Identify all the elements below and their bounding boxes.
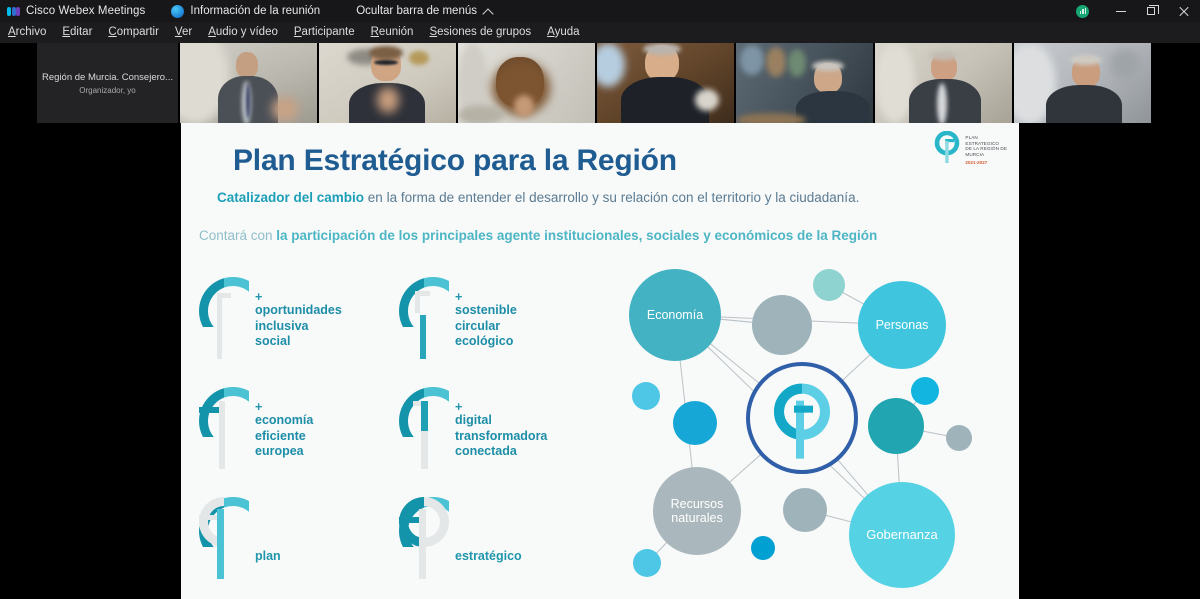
self-tile-role: Organizador, yo bbox=[79, 86, 135, 95]
menu-item-compartir[interactable]: Compartir bbox=[100, 22, 167, 43]
network-node-recursos-naturales: Recursos naturales bbox=[653, 467, 741, 555]
feature-text: estratégico bbox=[455, 495, 522, 563]
feature-item-plan: plan bbox=[193, 495, 393, 595]
feature-item-economia: + economía eficiente europea bbox=[193, 385, 393, 495]
window-controls bbox=[1076, 0, 1200, 22]
feature-item-sostenible: + sostenible circular ecológico bbox=[393, 275, 593, 385]
ring-mark-digital-icon bbox=[393, 385, 455, 471]
network-node-11 bbox=[783, 488, 827, 532]
feature-label: estratégico bbox=[455, 511, 522, 563]
hide-menubar-label: Ocultar barra de menús bbox=[356, 5, 477, 17]
presentation-slide[interactable]: Plan Estratégico para la Región Cataliza… bbox=[181, 123, 1019, 599]
video-frame bbox=[180, 43, 317, 123]
menu-label: eunión bbox=[379, 26, 414, 38]
feature-line: economía bbox=[255, 413, 313, 429]
feature-line: circular bbox=[455, 319, 517, 335]
feature-line: inclusiva bbox=[255, 319, 342, 335]
feature-row-1: + oportunidades inclusiva social + bbox=[193, 275, 593, 385]
webex-logo-icon bbox=[7, 5, 20, 18]
network-node-6 bbox=[632, 382, 660, 410]
menu-mnemonic: A bbox=[8, 26, 16, 38]
menu-mnemonic: A bbox=[547, 26, 554, 38]
menu-mnemonic: P bbox=[294, 26, 302, 38]
minimize-button[interactable] bbox=[1106, 0, 1136, 22]
slide-logo-line-4: MURCIA bbox=[965, 152, 1007, 158]
menu-mnemonic: R bbox=[371, 26, 379, 38]
menu-label: esiones de grupos bbox=[437, 26, 531, 38]
video-frame bbox=[319, 43, 456, 123]
network-node-4 bbox=[752, 295, 812, 355]
feature-plus: + bbox=[255, 401, 313, 413]
slide-subtitle-2: Contará con la participación de los prin… bbox=[199, 228, 877, 243]
menu-mnemonic: E bbox=[62, 26, 70, 38]
restore-icon bbox=[1147, 7, 1156, 16]
slide-logo-text: PLAN ESTRATEGICO DE LA REGIÓN DE MURCIA … bbox=[965, 131, 1007, 165]
hide-menubar-button[interactable]: Ocultar barra de menús bbox=[356, 5, 493, 17]
menu-mnemonic: V bbox=[175, 26, 182, 38]
video-frame bbox=[736, 43, 873, 123]
menu-label: rchivo bbox=[16, 26, 47, 38]
participant-video-tile-3[interactable] bbox=[458, 43, 597, 123]
menu-label: ompartir bbox=[117, 26, 159, 38]
video-frame bbox=[597, 43, 734, 123]
feature-grid: + oportunidades inclusiva social + bbox=[193, 275, 593, 595]
feature-line: ecológico bbox=[455, 334, 517, 350]
info-shield-icon bbox=[171, 5, 184, 18]
network-core-node bbox=[746, 362, 858, 474]
feature-line: oportunidades bbox=[255, 303, 342, 319]
slide-logo-line-3: DE LA REGIÓN DE bbox=[965, 146, 1007, 152]
close-icon bbox=[1178, 6, 1189, 17]
network-node-13 bbox=[633, 549, 661, 577]
menu-item-reunion[interactable]: Reunión bbox=[363, 22, 422, 43]
self-tile-name: Región de Murcia. Consejero... bbox=[42, 72, 173, 83]
network-node-8 bbox=[868, 398, 924, 454]
meeting-info-label: Información de la reunión bbox=[190, 5, 320, 17]
network-node-label: Gobernanza bbox=[866, 528, 938, 542]
minimize-icon bbox=[1116, 11, 1126, 12]
plan-estrategico-core-icon bbox=[767, 379, 837, 461]
participant-filmstrip: Región de Murcia. Consejero... Organizad… bbox=[0, 43, 1200, 123]
menu-item-ver[interactable]: Ver bbox=[167, 22, 200, 43]
ring-mark-opportunities-icon bbox=[193, 275, 255, 361]
feature-item-digital: + digital transformadora conectada bbox=[393, 385, 593, 495]
app-title: Cisco Webex Meetings bbox=[26, 5, 145, 17]
participant-video-tile-2[interactable] bbox=[319, 43, 458, 123]
feature-text: + oportunidades inclusiva social bbox=[255, 275, 342, 350]
video-frame bbox=[458, 43, 595, 123]
participant-video-tile-5[interactable] bbox=[736, 43, 875, 123]
slide-logo: PLAN ESTRATEGICO DE LA REGIÓN DE MURCIA … bbox=[934, 131, 1007, 165]
network-node-12 bbox=[751, 536, 775, 560]
slide-subtitle-1-rest: en la forma de entender el desarrollo y … bbox=[364, 190, 859, 205]
network-node-7 bbox=[673, 401, 717, 445]
menu-bar: Archivo Editar Compartir Ver Audio y víd… bbox=[0, 22, 1200, 43]
feature-text: plan bbox=[255, 495, 281, 563]
window-title-bar: Cisco Webex Meetings Información de la r… bbox=[0, 0, 1200, 22]
network-signal-icon[interactable] bbox=[1076, 5, 1089, 18]
feature-row-3: plan estratégico bbox=[193, 495, 593, 595]
participant-video-tile-4[interactable] bbox=[597, 43, 736, 123]
feature-plus: + bbox=[455, 401, 547, 413]
feature-text: + economía eficiente europea bbox=[255, 385, 313, 460]
menu-item-editar[interactable]: Editar bbox=[54, 22, 100, 43]
slide-logo-years: 2021-2027 bbox=[965, 160, 1007, 166]
feature-item-estrategico: estratégico bbox=[393, 495, 593, 595]
feature-line: transformadora bbox=[455, 429, 547, 445]
feature-line: social bbox=[255, 334, 342, 350]
feature-text: + sostenible circular ecológico bbox=[455, 275, 517, 350]
shared-content-stage: Plan Estratégico para la Región Cataliza… bbox=[0, 123, 1200, 599]
menu-item-ayuda[interactable]: Ayuda bbox=[539, 22, 587, 43]
participant-video-tile-6[interactable] bbox=[875, 43, 1014, 123]
feature-plus: + bbox=[255, 291, 342, 303]
participant-video-tile-1[interactable] bbox=[180, 43, 319, 123]
feature-row-2: + economía eficiente europea + bbox=[193, 385, 593, 495]
network-node-label: Personas bbox=[876, 318, 929, 332]
ring-mark-sustainable-icon bbox=[393, 275, 455, 361]
network-node-5 bbox=[813, 269, 845, 301]
menu-item-audio-y-video[interactable]: Audio y vídeo bbox=[200, 22, 286, 43]
chevron-up-icon bbox=[484, 7, 493, 16]
feature-line: sostenible bbox=[455, 303, 517, 319]
slide-title: Plan Estratégico para la Región bbox=[233, 144, 677, 178]
self-video-tile[interactable]: Región de Murcia. Consejero... Organizad… bbox=[37, 43, 180, 123]
network-node-label: Economía bbox=[647, 308, 703, 322]
feature-text: + digital transformadora conectada bbox=[455, 385, 547, 460]
feature-plus: + bbox=[455, 291, 517, 303]
slide-subtitle-2-highlight: la participación de los principales agen… bbox=[276, 228, 877, 243]
menu-item-participante[interactable]: Participante bbox=[286, 22, 363, 43]
video-frame bbox=[1014, 43, 1151, 123]
menu-mnemonic: A bbox=[208, 26, 216, 38]
meeting-info-button[interactable]: Información de la reunión bbox=[171, 5, 320, 18]
video-frame bbox=[875, 43, 1012, 123]
menu-label: ditar bbox=[70, 26, 92, 38]
network-node-gobernanza: Gobernanza bbox=[849, 482, 955, 588]
ring-mark-economy-icon bbox=[193, 385, 255, 471]
feature-line: digital bbox=[455, 413, 547, 429]
menu-mnemonic: C bbox=[108, 26, 116, 38]
feature-line: conectada bbox=[455, 444, 547, 460]
maximize-button[interactable] bbox=[1136, 0, 1166, 22]
feature-label: plan bbox=[255, 511, 281, 563]
feature-item-oportunidades: + oportunidades inclusiva social bbox=[193, 275, 393, 385]
ring-mark-plan-icon bbox=[193, 495, 255, 581]
feature-line: eficiente bbox=[255, 429, 313, 445]
slide-subtitle-2-lead: Contará con bbox=[199, 228, 276, 243]
menu-item-archivo[interactable]: Archivo bbox=[0, 22, 54, 43]
menu-label: er bbox=[182, 26, 192, 38]
menu-label: yuda bbox=[555, 26, 580, 38]
app-identity: Cisco Webex Meetings bbox=[7, 5, 145, 18]
network-diagram: EconomíaPersonasGobernanzaRecursos natur… bbox=[597, 263, 1007, 593]
network-node-10 bbox=[946, 425, 972, 451]
network-node-personas: Personas bbox=[858, 281, 946, 369]
slide-subtitle-1-highlight: Catalizador del cambio bbox=[217, 190, 364, 205]
menu-mnemonic: S bbox=[429, 26, 437, 38]
plan-estrategico-logo-icon bbox=[934, 131, 960, 165]
menu-item-sesiones-de-grupos[interactable]: Sesiones de grupos bbox=[421, 22, 539, 43]
slide-subtitle-1: Catalizador del cambio en la forma de en… bbox=[217, 190, 859, 205]
menu-label: udio y vídeo bbox=[216, 26, 278, 38]
participant-video-tile-7[interactable] bbox=[1014, 43, 1153, 123]
network-node-label: Recursos naturales bbox=[671, 497, 724, 525]
network-node-economía: Economía bbox=[629, 269, 721, 361]
feature-line: europea bbox=[255, 444, 313, 460]
network-node-9 bbox=[911, 377, 939, 405]
menu-label: articipante bbox=[302, 26, 355, 38]
ring-mark-estrategico-icon bbox=[393, 495, 455, 581]
close-button[interactable] bbox=[1166, 0, 1200, 22]
